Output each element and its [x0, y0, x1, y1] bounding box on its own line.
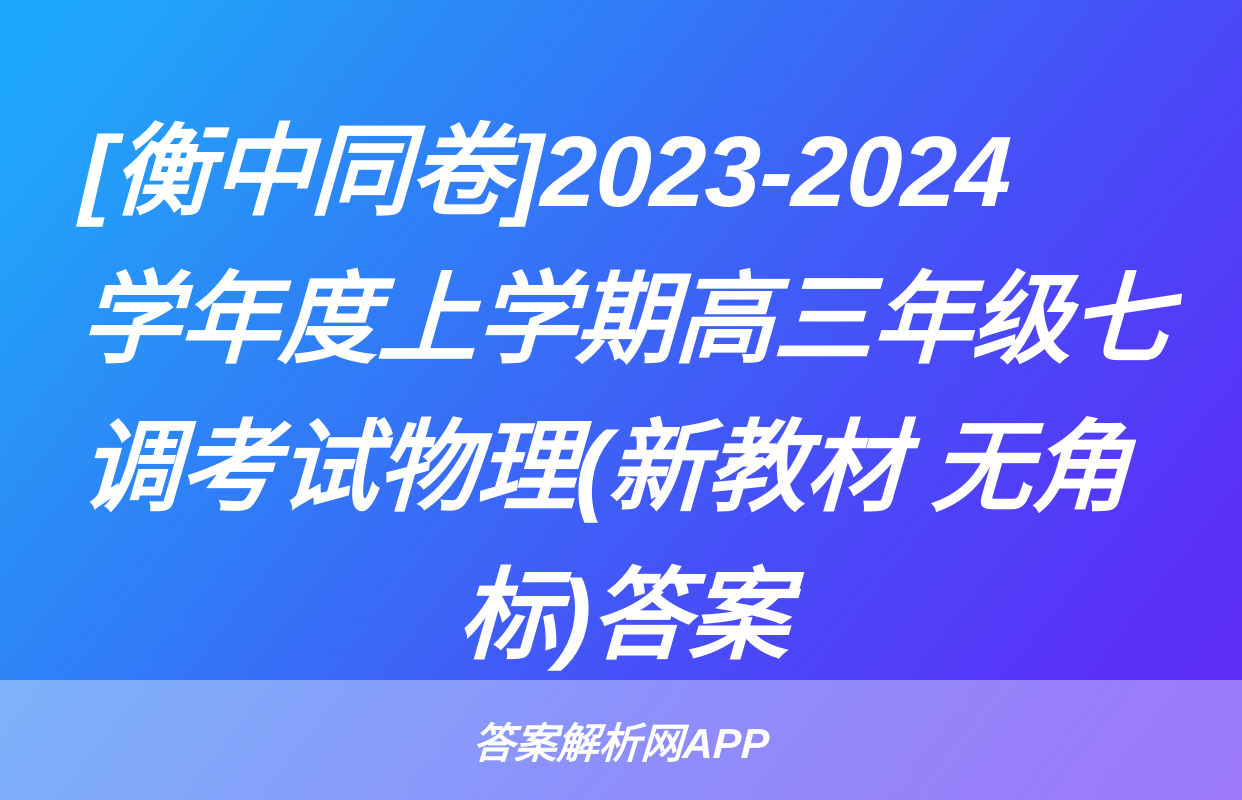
- app-watermark-label: 答案解析网APP: [471, 710, 771, 771]
- title-line-1: [衡中同卷]2023-2024: [78, 98, 1169, 246]
- page-title: [衡中同卷]2023-2024 学年度上学期高三年级七 调考试物理(新教材 无角…: [0, 98, 1242, 690]
- title-line-3: 调考试物理(新教材 无角: [78, 394, 1169, 542]
- title-line-4: 标)答案: [78, 542, 1169, 690]
- title-line-2: 学年度上学期高三年级七: [78, 246, 1169, 394]
- app-watermark: 答案解析网APP: [0, 680, 1242, 800]
- poster-canvas: [衡中同卷]2023-2024 学年度上学期高三年级七 调考试物理(新教材 无角…: [0, 0, 1242, 800]
